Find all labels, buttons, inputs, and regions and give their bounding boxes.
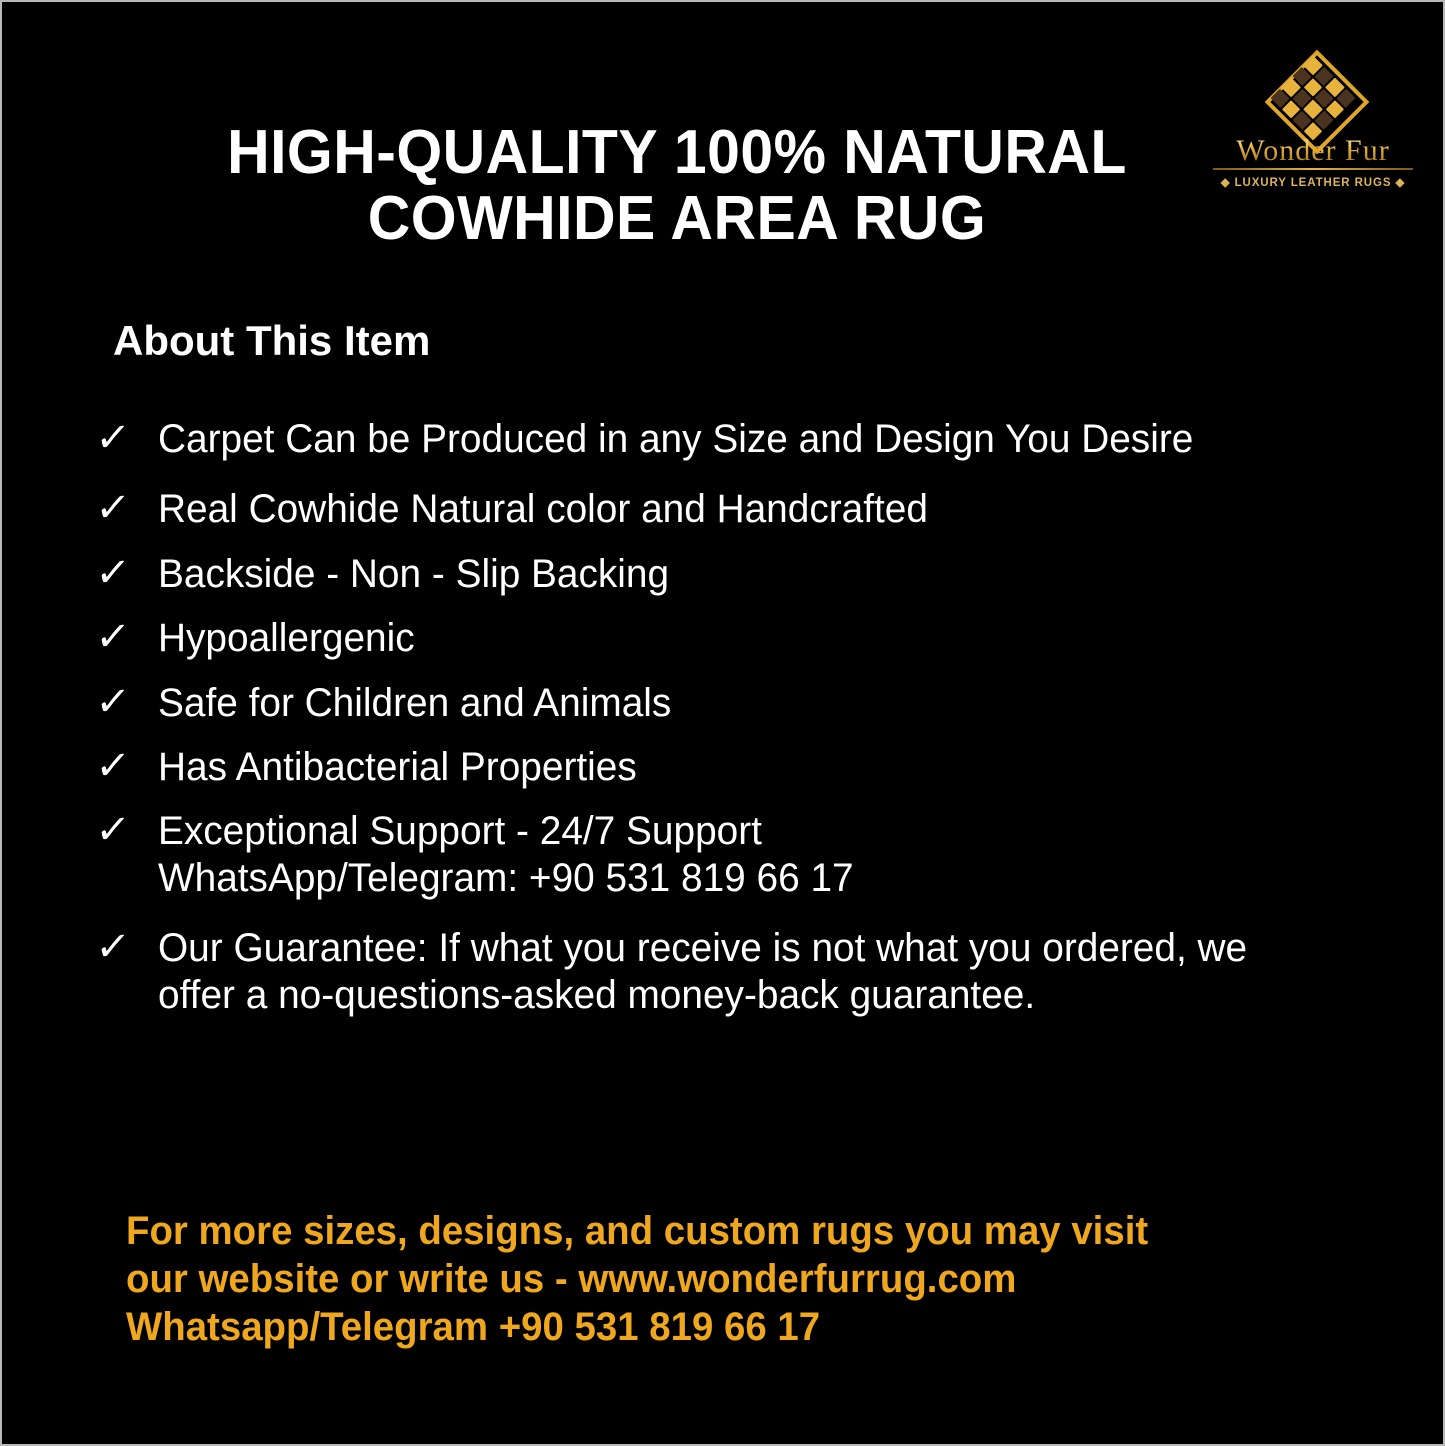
product-infographic: HIGH-QUALITY 100% NATURAL COWHIDE AREA R… bbox=[0, 0, 1445, 1446]
feature-item: ✓Carpet Can be Produced in any Size and … bbox=[94, 416, 1394, 462]
check-icon: ✓ bbox=[92, 925, 161, 969]
page-title-line-1: HIGH-QUALITY 100% NATURAL bbox=[207, 120, 1148, 186]
feature-item-label: Backside - Non - Slip Backing bbox=[158, 551, 1357, 597]
brand-wordmark: Wonder Fur bbox=[1207, 136, 1419, 166]
diamond-logo-icon bbox=[1265, 50, 1361, 146]
check-icon: ✓ bbox=[92, 416, 161, 460]
check-icon: ✓ bbox=[92, 551, 161, 595]
brand-tagline: ◆ LUXURY LEATHER RUGS ◆ bbox=[1207, 175, 1419, 189]
feature-item-label: Has Antibacterial Properties bbox=[158, 744, 1357, 790]
page-title-line-2: COWHIDE AREA RUG bbox=[207, 186, 1148, 252]
feature-list: ✓Carpet Can be Produced in any Size and … bbox=[94, 416, 1394, 1042]
page-title: HIGH-QUALITY 100% NATURAL COWHIDE AREA R… bbox=[207, 120, 1148, 253]
check-icon: ✓ bbox=[92, 744, 161, 788]
feature-item: ✓Safe for Children and Animals bbox=[94, 680, 1394, 726]
brand-logo: Wonder Fur ◆ LUXURY LEATHER RUGS ◆ bbox=[1207, 50, 1419, 202]
header: HIGH-QUALITY 100% NATURAL COWHIDE AREA R… bbox=[2, 2, 1443, 292]
feature-item-label: Real Cowhide Natural color and Handcraft… bbox=[158, 486, 1357, 532]
feature-item-label: Safe for Children and Animals bbox=[158, 680, 1357, 726]
feature-item: ✓Our Guarantee: If what you receive is n… bbox=[94, 925, 1394, 1018]
feature-item: ✓Real Cowhide Natural color and Handcraf… bbox=[94, 486, 1394, 532]
logo-divider bbox=[1213, 168, 1413, 170]
about-section-heading: About This Item bbox=[113, 320, 430, 362]
feature-item-label: Exceptional Support - 24/7 Support Whats… bbox=[158, 808, 1357, 901]
feature-item: ✓Has Antibacterial Properties bbox=[94, 744, 1394, 790]
check-icon: ✓ bbox=[92, 680, 161, 724]
feature-item-label: Our Guarantee: If what you receive is no… bbox=[158, 925, 1357, 1018]
feature-item-label: Carpet Can be Produced in any Size and D… bbox=[158, 416, 1357, 462]
check-icon: ✓ bbox=[92, 486, 161, 530]
feature-item: ✓Backside - Non - Slip Backing bbox=[94, 551, 1394, 597]
feature-item: ✓Exceptional Support - 24/7 Support What… bbox=[94, 808, 1394, 901]
check-icon: ✓ bbox=[92, 808, 161, 852]
check-icon: ✓ bbox=[92, 615, 161, 659]
feature-item: ✓Hypoallergenic bbox=[94, 615, 1394, 661]
promo-footer-text: For more sizes, designs, and custom rugs… bbox=[126, 1207, 1336, 1351]
feature-item-label: Hypoallergenic bbox=[158, 615, 1357, 661]
